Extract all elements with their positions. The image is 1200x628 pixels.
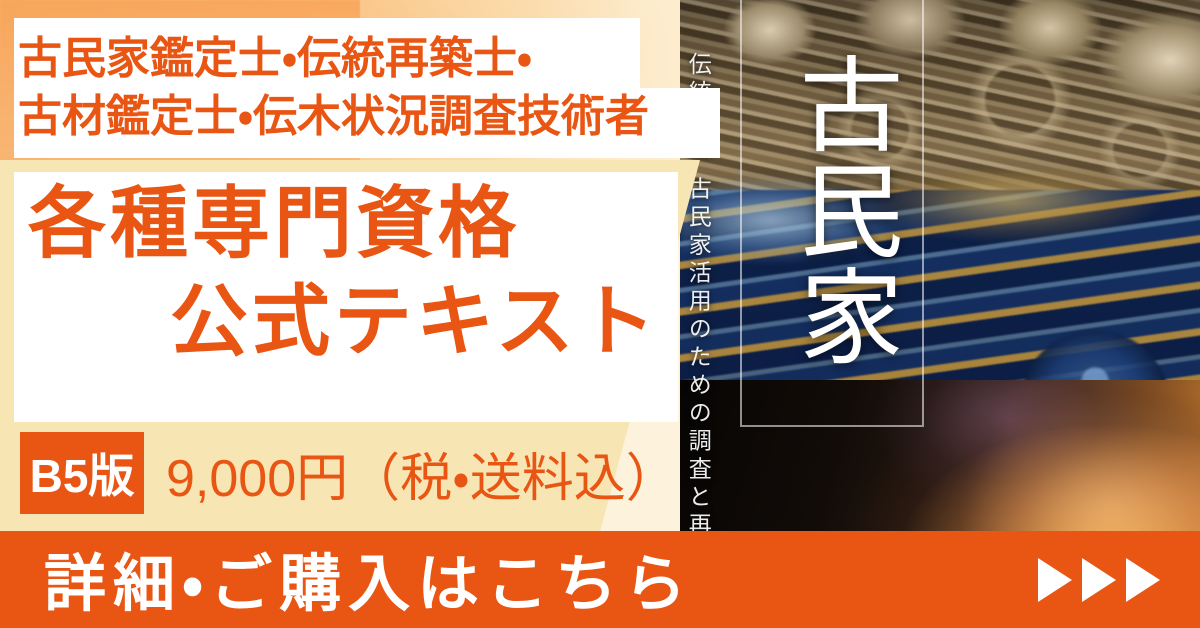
- format-badge: B5版: [20, 432, 144, 514]
- qualifications-line-1: 古民家鑑定士・伝統再築士・: [18, 30, 718, 88]
- chevron-right-icon: [1082, 558, 1116, 602]
- book-cover-title: 古民家: [752, 6, 908, 414]
- headline-panel: 各種専門資格 公式テキスト: [14, 172, 678, 422]
- headline-line-1: 各種専門資格: [28, 184, 520, 262]
- price-amount: 9,000円（税・送料込）: [166, 432, 678, 514]
- cta-label: 詳細・ご購入はこちら: [44, 533, 693, 623]
- promo-banner: 古民家 伝統構法 古民家活用のための調査と再生の 古民家鑑定士・伝統再築士・ 古…: [0, 0, 1200, 628]
- qualifications-text: 古民家鑑定士・伝統再築士・ 古材鑑定士・伝木状況調査技術者: [18, 24, 718, 152]
- headline-line-2: 公式テキスト: [170, 282, 660, 360]
- chevron-right-icon: [1038, 558, 1072, 602]
- price-row: B5版 9,000円（税・送料込）: [0, 424, 720, 524]
- qualifications-line-2: 古材鑑定士・伝木状況調査技術者: [18, 88, 718, 146]
- cta-arrows: [1038, 558, 1160, 602]
- chevron-right-icon: [1126, 558, 1160, 602]
- cta-bar[interactable]: 詳細・ご購入はこちら: [0, 531, 1200, 628]
